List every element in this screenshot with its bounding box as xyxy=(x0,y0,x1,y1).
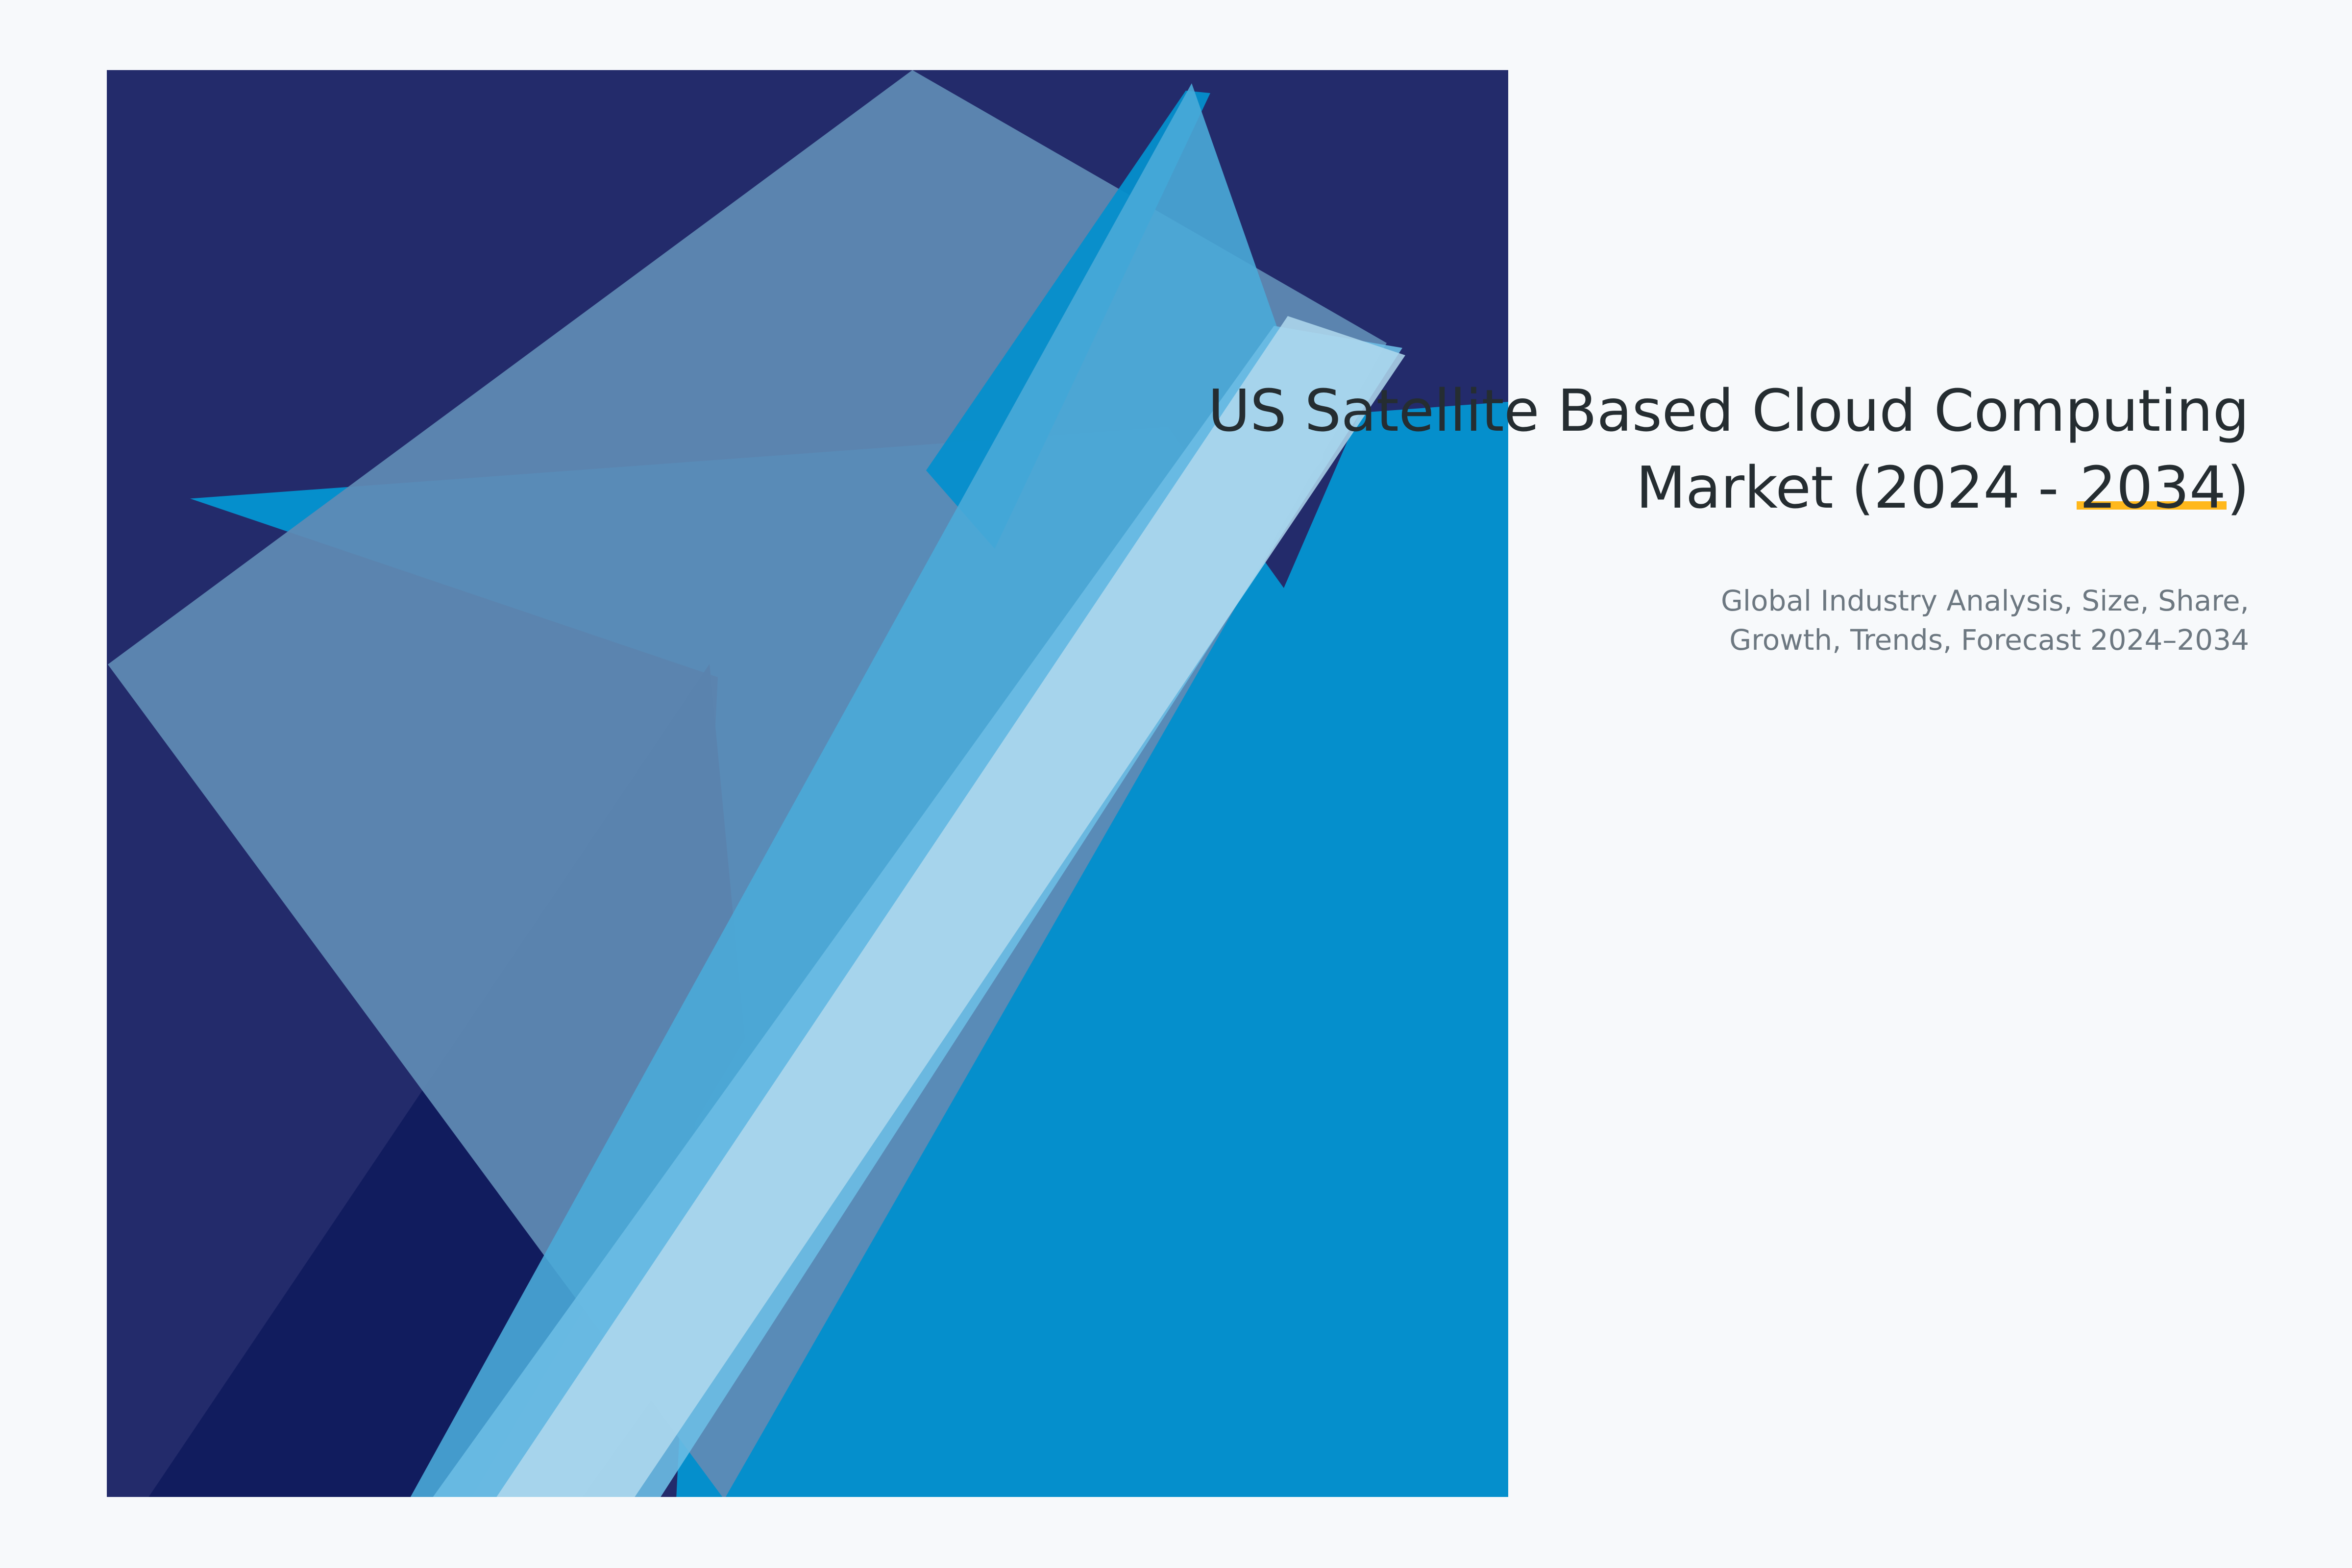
page-title-line-2: Market (2024 - 2034) xyxy=(755,449,2249,526)
page-title-line-1: US Satellite Based Cloud Computing xyxy=(755,372,2249,449)
page-subtitle-line-1: Global Industry Analysis, Size, Share, xyxy=(755,581,2249,620)
page-title: US Satellite Based Cloud Computing Marke… xyxy=(755,372,2249,526)
abstract-geometric-cover-graphic xyxy=(0,0,2352,1568)
page-subtitle: Global Industry Analysis, Size, Share, G… xyxy=(755,581,2249,660)
page-title-line-2-suffix: ) xyxy=(2227,454,2249,521)
page-subtitle-line-2: Growth, Trends, Forecast 2024–2034 xyxy=(755,620,2249,660)
page-title-line-2-prefix: Market (2024 - xyxy=(1636,454,2077,521)
cover-text-block: US Satellite Based Cloud Computing Marke… xyxy=(755,372,2249,660)
cover-page: US Satellite Based Cloud Computing Marke… xyxy=(0,0,2352,1568)
page-title-highlight-year: 2034 xyxy=(2077,454,2227,521)
